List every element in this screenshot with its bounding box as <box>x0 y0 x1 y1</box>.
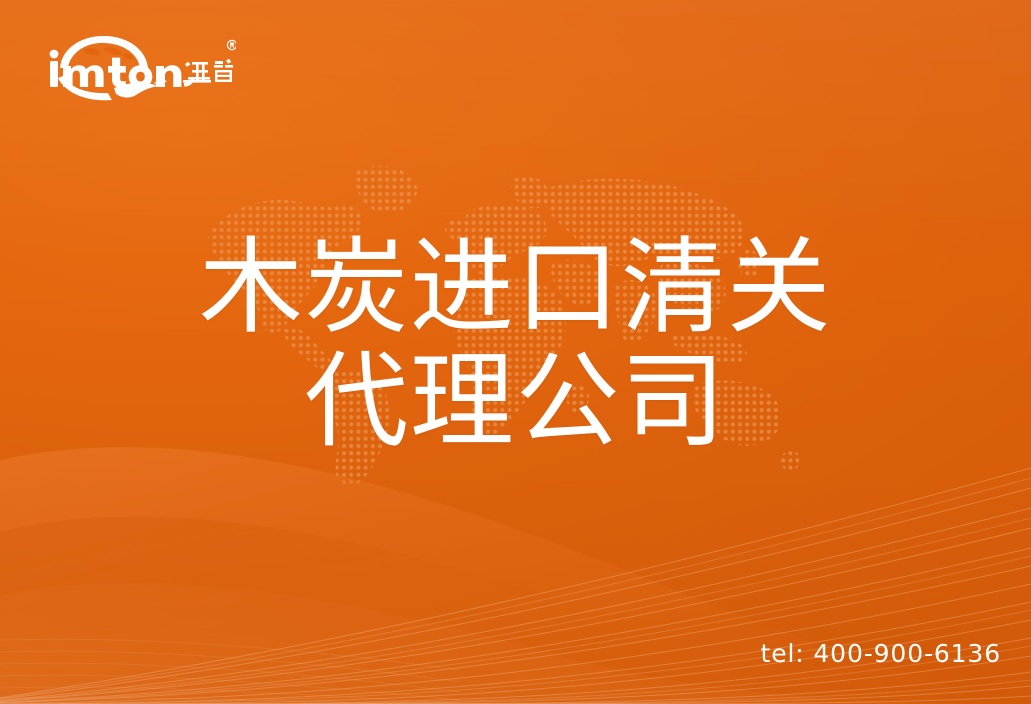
headline-line-1: 木炭进口清关 <box>0 232 1031 342</box>
page-title: 木炭进口清关 代理公司 <box>0 232 1031 456</box>
marketing-banner: 木炭进口清关 代理公司 tel: 400-900-6136 <box>0 0 1031 704</box>
logo-cn-name <box>183 59 233 87</box>
company-logo[interactable] <box>36 28 236 102</box>
headline-line-2: 代理公司 <box>0 346 1031 456</box>
globe-arc-icon <box>60 36 148 68</box>
trademark-icon <box>227 40 236 49</box>
telephone-text: tel: 400-900-6136 <box>761 639 1001 668</box>
